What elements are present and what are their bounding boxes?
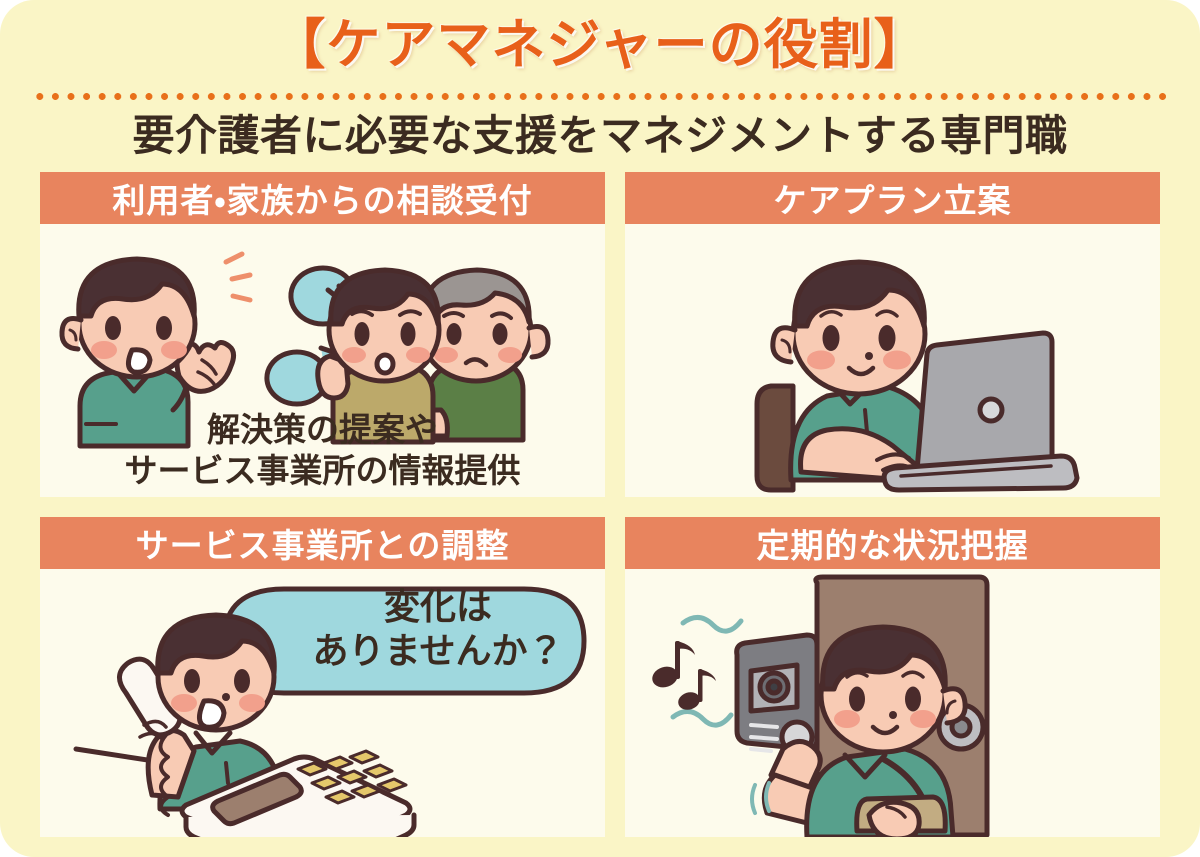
card-caption-consultation: 解決策の提案や サービス事業所の情報提供 [40, 409, 605, 491]
card-body-consultation: 解決策の提案や サービス事業所の情報提供 [40, 224, 605, 497]
card-coordination: サービス事業所との調整 [40, 517, 605, 837]
card-care-plan: ケアプラン立案 [625, 172, 1160, 497]
page-title: 【ケアマネジャーの役割】 [0, 8, 1200, 82]
infographic-poster: 【ケアマネジャーの役割】 要介護者に必要な支援をマネジメントする専門職 利用者・… [0, 0, 1200, 857]
card-monitoring: 定期的な状況把握 [625, 517, 1160, 837]
speech-bubble-text: 変化は ありませんか？ [298, 585, 578, 673]
card-body-care-plan [625, 224, 1160, 497]
card-header-coordination: サービス事業所との調整 [40, 517, 605, 569]
poster-header: 【ケアマネジャーの役割】 要介護者に必要な支援をマネジメントする専門職 [0, 0, 1200, 170]
card-header-monitoring: 定期的な状況把握 [625, 517, 1160, 569]
card-body-coordination: 変化は ありませんか？ [40, 569, 605, 837]
card-consultation: 利用者・家族からの相談受付 [40, 172, 605, 497]
page-subtitle: 要介護者に必要な支援をマネジメントする専門職 [0, 110, 1200, 162]
illustration-monitoring [625, 569, 1160, 837]
card-header-consultation: 利用者・家族からの相談受付 [40, 172, 605, 224]
card-header-care-plan: ケアプラン立案 [625, 172, 1160, 224]
card-body-monitoring [625, 569, 1160, 837]
card-grid: 利用者・家族からの相談受付 [40, 172, 1160, 837]
illustration-care-plan [625, 224, 1160, 497]
dotted-divider [32, 92, 1168, 101]
